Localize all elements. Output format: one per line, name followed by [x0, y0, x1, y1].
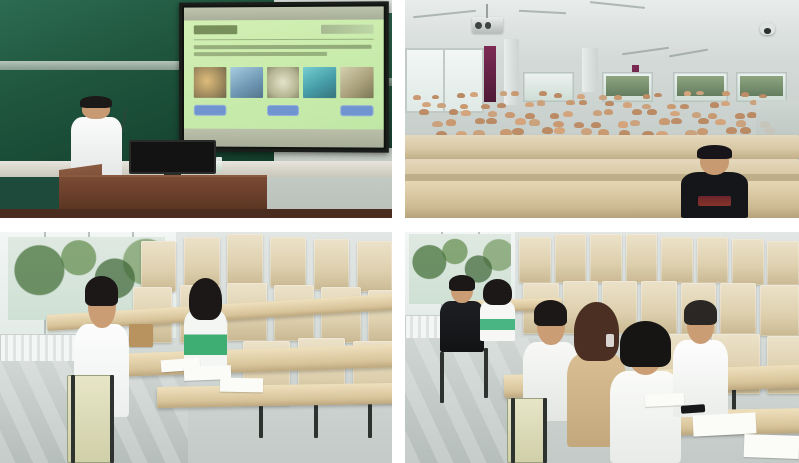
student	[537, 100, 546, 105]
student-hair	[697, 145, 732, 159]
student-right-hair	[189, 278, 222, 320]
student	[539, 91, 547, 96]
student	[486, 118, 496, 124]
student	[505, 112, 515, 118]
slide-button	[341, 105, 374, 116]
chair-leg	[71, 375, 75, 463]
student	[715, 119, 725, 125]
student	[542, 127, 553, 134]
slide-logo	[321, 25, 373, 34]
slide-button	[230, 105, 263, 116]
person-hair	[620, 321, 671, 367]
student	[654, 93, 662, 98]
stage-edge	[0, 209, 392, 218]
student	[525, 102, 534, 107]
slide-thumbnail	[267, 67, 300, 98]
student	[670, 111, 680, 117]
student	[581, 128, 592, 135]
student	[574, 122, 584, 128]
seat	[767, 241, 799, 285]
student	[554, 127, 565, 134]
slide-divider	[194, 39, 374, 41]
student	[642, 104, 651, 109]
seat	[314, 239, 349, 290]
student	[525, 113, 535, 119]
document	[743, 434, 799, 459]
student-shirt	[681, 172, 748, 218]
student	[684, 91, 692, 96]
seat	[732, 239, 764, 285]
student	[618, 121, 628, 127]
projection-screen	[179, 1, 389, 152]
student	[680, 104, 689, 109]
seat	[760, 285, 799, 336]
student	[623, 102, 632, 107]
student	[422, 102, 431, 107]
student	[632, 109, 642, 115]
slide-thumbnail	[304, 67, 337, 98]
seat	[555, 234, 587, 283]
chair-leg	[110, 375, 114, 463]
seat	[519, 237, 551, 283]
student	[488, 111, 498, 117]
student	[419, 109, 429, 115]
slide-title-text	[194, 26, 237, 35]
seat	[697, 237, 729, 283]
person-hair	[449, 275, 475, 291]
student	[614, 95, 622, 100]
photo-presenter-podium[interactable]	[0, 0, 392, 218]
water-bottle	[216, 157, 222, 172]
student	[500, 91, 508, 96]
student	[708, 113, 718, 119]
student	[591, 122, 601, 128]
slide-button	[194, 105, 226, 116]
student	[740, 127, 751, 134]
slide-top-band	[184, 7, 384, 21]
student	[457, 93, 465, 98]
slide-button	[267, 105, 300, 116]
student	[659, 118, 669, 124]
stool-leg	[484, 348, 488, 399]
seat	[626, 234, 658, 283]
background-student-white-top	[480, 283, 515, 341]
student	[432, 95, 440, 100]
person-shirt	[480, 301, 515, 341]
desk-row	[157, 383, 392, 408]
student	[461, 110, 471, 116]
student	[446, 119, 456, 125]
student	[563, 111, 573, 117]
student	[515, 118, 525, 124]
student	[413, 95, 421, 100]
student	[630, 120, 640, 126]
student	[759, 94, 767, 99]
student	[710, 102, 719, 107]
student	[604, 109, 614, 115]
stool-leg	[440, 352, 444, 403]
seat	[141, 241, 176, 292]
seat-leg	[259, 401, 263, 438]
slide-thumbnail-row	[194, 67, 374, 98]
water-bottle	[606, 334, 614, 348]
handbag	[129, 324, 153, 347]
seat	[661, 237, 693, 283]
student	[566, 100, 575, 105]
photo-two-students-desk[interactable]	[0, 232, 392, 463]
notebook	[645, 393, 685, 407]
seat	[270, 237, 305, 288]
person-shirt	[440, 301, 483, 352]
student	[671, 118, 681, 124]
photo-grid	[0, 0, 799, 463]
slide-thumbnail	[341, 67, 374, 98]
background-student-black-shirt	[440, 278, 483, 352]
student	[511, 91, 519, 96]
student	[736, 120, 746, 126]
presenter-hair	[80, 96, 113, 108]
seat	[227, 234, 262, 287]
student	[529, 119, 539, 125]
seat	[357, 241, 392, 292]
student	[643, 94, 651, 99]
person-shirt	[610, 371, 681, 463]
slide-body-line-1	[194, 45, 372, 49]
person-hair	[534, 300, 567, 325]
security-camera-icon	[760, 22, 776, 35]
student	[735, 113, 745, 119]
student	[692, 112, 702, 118]
projector-icon	[472, 17, 504, 32]
foreground-student	[681, 148, 748, 218]
chair-leg	[511, 398, 515, 463]
person-hair	[483, 279, 511, 306]
podium-monitor	[129, 140, 215, 175]
student	[605, 101, 614, 106]
student	[554, 93, 562, 98]
student	[481, 104, 490, 109]
student	[577, 94, 585, 99]
student-left-hair	[85, 276, 118, 305]
slide-thumbnail	[194, 67, 226, 98]
chair-leg	[543, 398, 547, 463]
slide-thumbnail	[230, 67, 263, 98]
student	[726, 127, 737, 134]
student	[721, 101, 730, 106]
student	[470, 92, 478, 97]
student	[432, 121, 442, 127]
student	[497, 103, 506, 108]
student	[698, 118, 708, 124]
student	[697, 128, 708, 135]
student	[579, 100, 588, 105]
student	[741, 92, 749, 97]
student	[599, 95, 607, 100]
seat-leg	[368, 401, 372, 438]
student	[696, 91, 704, 96]
student	[475, 118, 485, 124]
photo-group-consultation[interactable]	[405, 232, 799, 463]
slide-body-line-2	[194, 52, 327, 56]
slide-button	[304, 105, 337, 116]
student	[449, 109, 459, 115]
photo-full-lecture-hall[interactable]	[405, 0, 799, 218]
pillar	[582, 48, 598, 92]
person-hair	[684, 300, 717, 324]
slide-button-row	[194, 105, 374, 117]
student	[722, 91, 730, 96]
seat	[590, 234, 622, 283]
presentation-slide	[184, 7, 384, 148]
student	[667, 104, 676, 109]
student	[460, 104, 469, 109]
student	[593, 110, 603, 116]
student	[550, 113, 560, 119]
notebook	[219, 377, 262, 392]
student	[647, 109, 657, 115]
student	[437, 103, 446, 108]
student	[512, 128, 523, 135]
